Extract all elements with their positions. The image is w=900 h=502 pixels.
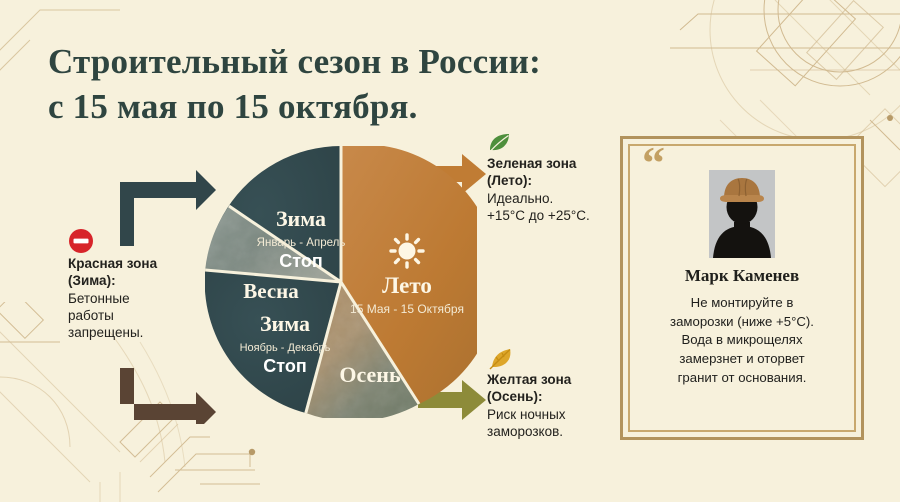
callout-yellow-body-2: заморозков.: [487, 423, 627, 440]
slice-label-autumn: Осень: [339, 362, 401, 387]
avatar: [709, 170, 775, 258]
callout-red-head-2: (Зима):: [68, 273, 198, 290]
callout-red-body-3: запрещены.: [68, 324, 198, 341]
title-line-1: Строительный сезон в России:: [48, 42, 541, 81]
callout-green-zone: Зеленая зона (Лето): Идеально. +15°C до …: [487, 132, 627, 224]
callout-red-body-1: Бетонные: [68, 290, 198, 307]
expert-quote-card: “ Марк Каменев: [620, 136, 864, 440]
green-leaf-icon: [487, 132, 513, 154]
callout-yellow-body-1: Риск ночных: [487, 406, 627, 423]
arrow-red-zone-to-winter-bottom: [112, 368, 218, 424]
card-inner-frame: “ Марк Каменев: [628, 144, 856, 432]
callout-red-head-1: Красная зона: [68, 256, 198, 273]
quote-line-4: замерзнет и оторвет: [644, 350, 840, 369]
expert-quote-text: Не монтируйте в заморозки (ниже +5°C). В…: [644, 294, 840, 388]
page-title: Строительный сезон в России: с 15 мая по…: [48, 40, 648, 130]
slice-label-winter-bottom: Зима: [260, 311, 310, 336]
quote-line-2: заморозки (ниже +5°C).: [644, 313, 840, 332]
callout-yellow-zone: Желтая зона (Осень): Риск ночных замороз…: [487, 348, 627, 440]
infographic-canvas: Строительный сезон в России: с 15 мая по…: [0, 0, 900, 502]
callout-yellow-head-1: Желтая зона: [487, 372, 627, 389]
callout-green-body-2: +15°C до +25°C.: [487, 207, 627, 224]
callout-red-body-2: работы: [68, 307, 198, 324]
slice-label-winter-top: Зима: [276, 206, 326, 231]
callout-green-head-2: (Лето):: [487, 173, 627, 190]
expert-name: Марк Каменев: [630, 266, 854, 286]
callout-green-head-1: Зеленая зона: [487, 156, 627, 173]
sun-icon: [391, 235, 423, 267]
quote-line-1: Не монтируйте в: [644, 294, 840, 313]
callout-green-body-1: Идеально.: [487, 190, 627, 207]
slice-label-summer: Лето: [382, 273, 432, 298]
slice-status-winter-bottom: Стоп: [263, 356, 306, 376]
slice-status-winter-top: Стоп: [279, 251, 322, 271]
slice-label-spring: Весна: [243, 279, 299, 303]
quote-line-5: гранит от основания.: [644, 369, 840, 388]
no-entry-icon: [68, 228, 94, 254]
callout-red-zone: Красная зона (Зима): Бетонные работы зап…: [68, 228, 198, 342]
callout-yellow-head-2: (Осень):: [487, 389, 627, 406]
title-line-2: с 15 мая по 15 октября.: [48, 85, 648, 130]
slice-sub-winter-top: Январь - Апрель: [257, 237, 346, 249]
quote-line-3: Вода в микрощелях: [644, 331, 840, 350]
slice-sub-summer: 15 Мая - 15 Октября: [350, 302, 464, 316]
season-pie-chart: Зима Январь - Апрель Стоп Лето 15 Мая - …: [205, 146, 477, 418]
yellow-leaf-icon: [487, 348, 515, 370]
slice-sub-winter-bottom: Ноябрь - Декабрь: [240, 342, 331, 354]
quote-mark-icon: “: [642, 140, 665, 186]
